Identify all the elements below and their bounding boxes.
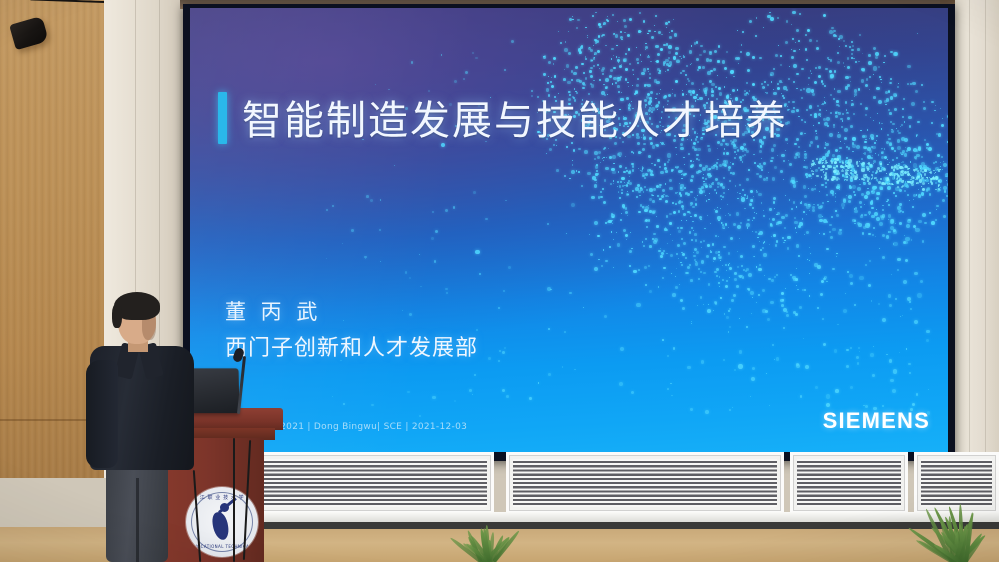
vent-panel: [790, 452, 908, 514]
vent-louvers: [797, 459, 901, 507]
plant-right: [916, 486, 999, 562]
podium-cable: [233, 438, 235, 562]
emblem-figure-body: [211, 511, 230, 541]
presenter-hair-side: [112, 304, 122, 328]
slide-title: 智能制造发展与技能人才培养: [242, 88, 788, 146]
vent-louvers: [513, 459, 777, 507]
plant-center: [452, 516, 522, 562]
particle-graphic: [190, 8, 948, 452]
title-accent-bar: [218, 92, 227, 144]
presentation-screen: 智能制造发展与技能人才培养 董 丙 武 西门子创新和人才发展部 ns 2021 …: [190, 8, 948, 452]
presenter: [84, 288, 204, 562]
right-cream-wall: [955, 0, 999, 487]
slide-footer-text: ns 2021 | Dong Bingwu| SCE | 2021-12-03: [266, 422, 467, 432]
vent-floor-shadow: [180, 522, 999, 529]
vent-baseboard: [180, 512, 999, 522]
wall-speaker-icon: [9, 16, 49, 50]
wall-seam: [985, 0, 986, 487]
slide-speaker-name: 董 丙 武: [225, 296, 321, 326]
wall-seam: [969, 0, 970, 487]
wall-vent-assembly: [180, 452, 999, 528]
screenshot-stage: 智能制造发展与技能人才培养 董 丙 武 西门子创新和人才发展部 ns 2021 …: [0, 0, 999, 562]
vent-panel: [506, 452, 784, 514]
siemens-logo: SIEMENS: [823, 408, 930, 434]
presenter-arm: [86, 360, 118, 468]
presenter-leg-split: [136, 478, 139, 562]
slide-speaker-department: 西门子创新和人才发展部: [225, 330, 478, 362]
